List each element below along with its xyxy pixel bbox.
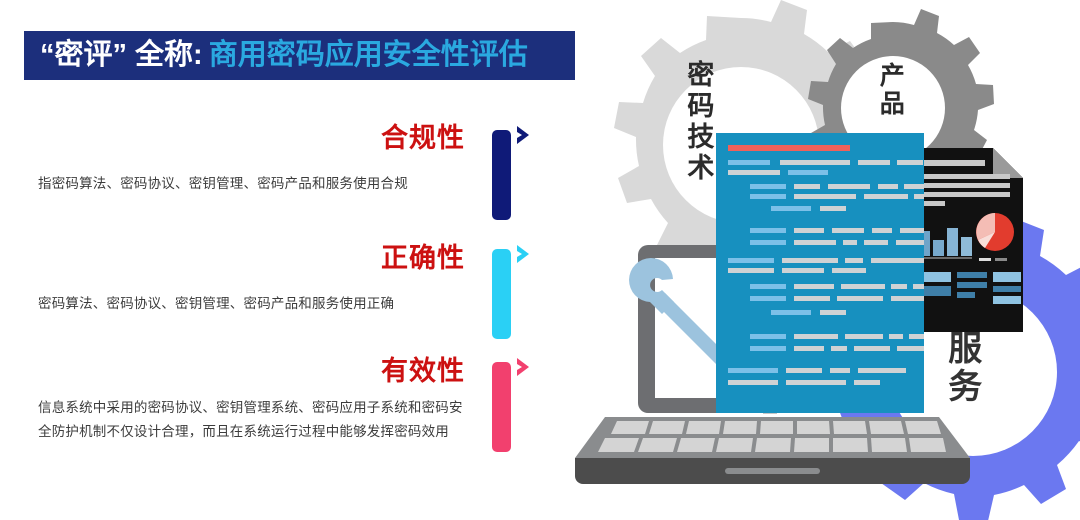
gear-label-product: 产品 — [877, 62, 903, 118]
slide-canvas: “密评” 全称: 商用密码应用安全性评估 合规性 指密码算法、密码协议、密钥管理… — [0, 0, 1080, 520]
criterion-heading: 合规性 — [381, 125, 465, 152]
criterion-heading: 正确性 — [381, 245, 465, 272]
illustration-group: 密码技术 产品 服务 — [575, 0, 1080, 520]
banner-fullname-text: 商用密码应用安全性评估 — [209, 41, 528, 70]
title-banner: “密评” 全称: 商用密码应用安全性评估 — [24, 31, 575, 80]
accent-bar-effectiveness — [492, 362, 511, 452]
gear-label-service: 服务 — [943, 330, 979, 406]
banner-prefix-text: “密评” 全称: — [40, 41, 203, 70]
chevron-right-icon — [514, 124, 536, 150]
chevron-right-icon — [514, 243, 536, 269]
criterion-description: 指密码算法、密码协议、密钥管理、密码产品和服务使用合规 — [38, 172, 408, 196]
criterion-heading: 有效性 — [381, 358, 465, 385]
criterion-description: 信息系统中采用的密码协议、密钥管理系统、密码应用子系统和密码安 全防护机制不仅设… — [38, 396, 463, 444]
illustration-svg — [575, 0, 1080, 520]
accent-bar-correctness — [492, 249, 511, 339]
criterion-description: 密码算法、密码协议、密钥管理、密码产品和服务使用正确 — [38, 292, 394, 316]
accent-bar-compliance — [492, 130, 511, 220]
gear-label-crypto-technology: 密码技术 — [684, 60, 712, 184]
chevron-right-icon — [514, 356, 536, 382]
code-document — [716, 133, 924, 413]
